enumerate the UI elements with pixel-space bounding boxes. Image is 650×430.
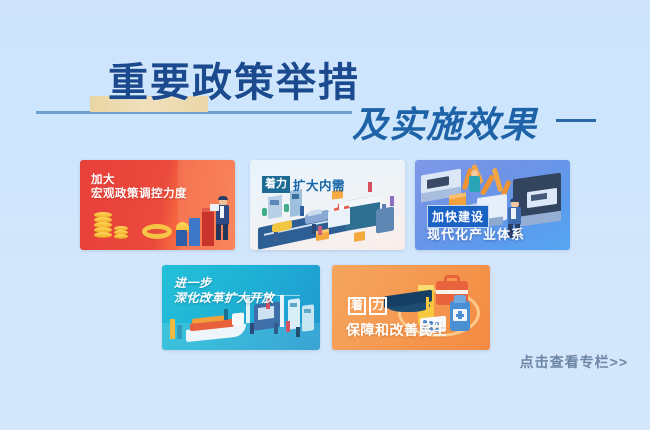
banner-stage: 重要政策举措 及实施效果 xyxy=(0,0,650,430)
card-5-badge-char-1: 着 xyxy=(348,297,366,315)
card-5-badge-char-2: 力 xyxy=(369,297,387,315)
card-2-label-chip: 着力 xyxy=(262,176,290,192)
card-5-label-badges: 着 力 xyxy=(348,297,387,315)
card-3-label-line2: 现代化产业体系 xyxy=(427,224,525,243)
card-4-divider xyxy=(174,295,300,296)
card-5-label-line2: 保障和改善民生 xyxy=(346,320,448,340)
card-increase-macro-policy[interactable]: 加大 宏观政策调控力度 xyxy=(80,160,235,250)
card-safeguard-livelihood[interactable]: 着 力 保障和改善民生 xyxy=(332,265,490,350)
illustration-isometric-city xyxy=(250,160,405,250)
card-4-label: 进一步 深化改革扩大开放 xyxy=(174,276,274,305)
card-1-label: 加大 宏观政策调控力度 xyxy=(91,173,187,201)
card-2-label-row: 着力 扩大内需 xyxy=(262,175,347,194)
view-column-link[interactable]: 点击查看专栏>> xyxy=(520,352,628,372)
card-accelerate-modern-industry[interactable]: 加快建设 现代化产业体系 xyxy=(415,160,570,250)
card-2-label-plain: 扩大内需 xyxy=(291,175,347,194)
card-expand-domestic-demand[interactable]: 着力 扩大内需 xyxy=(250,160,405,250)
card-deepen-reform-opening[interactable]: 进一步 深化改革扩大开放 xyxy=(162,265,320,350)
